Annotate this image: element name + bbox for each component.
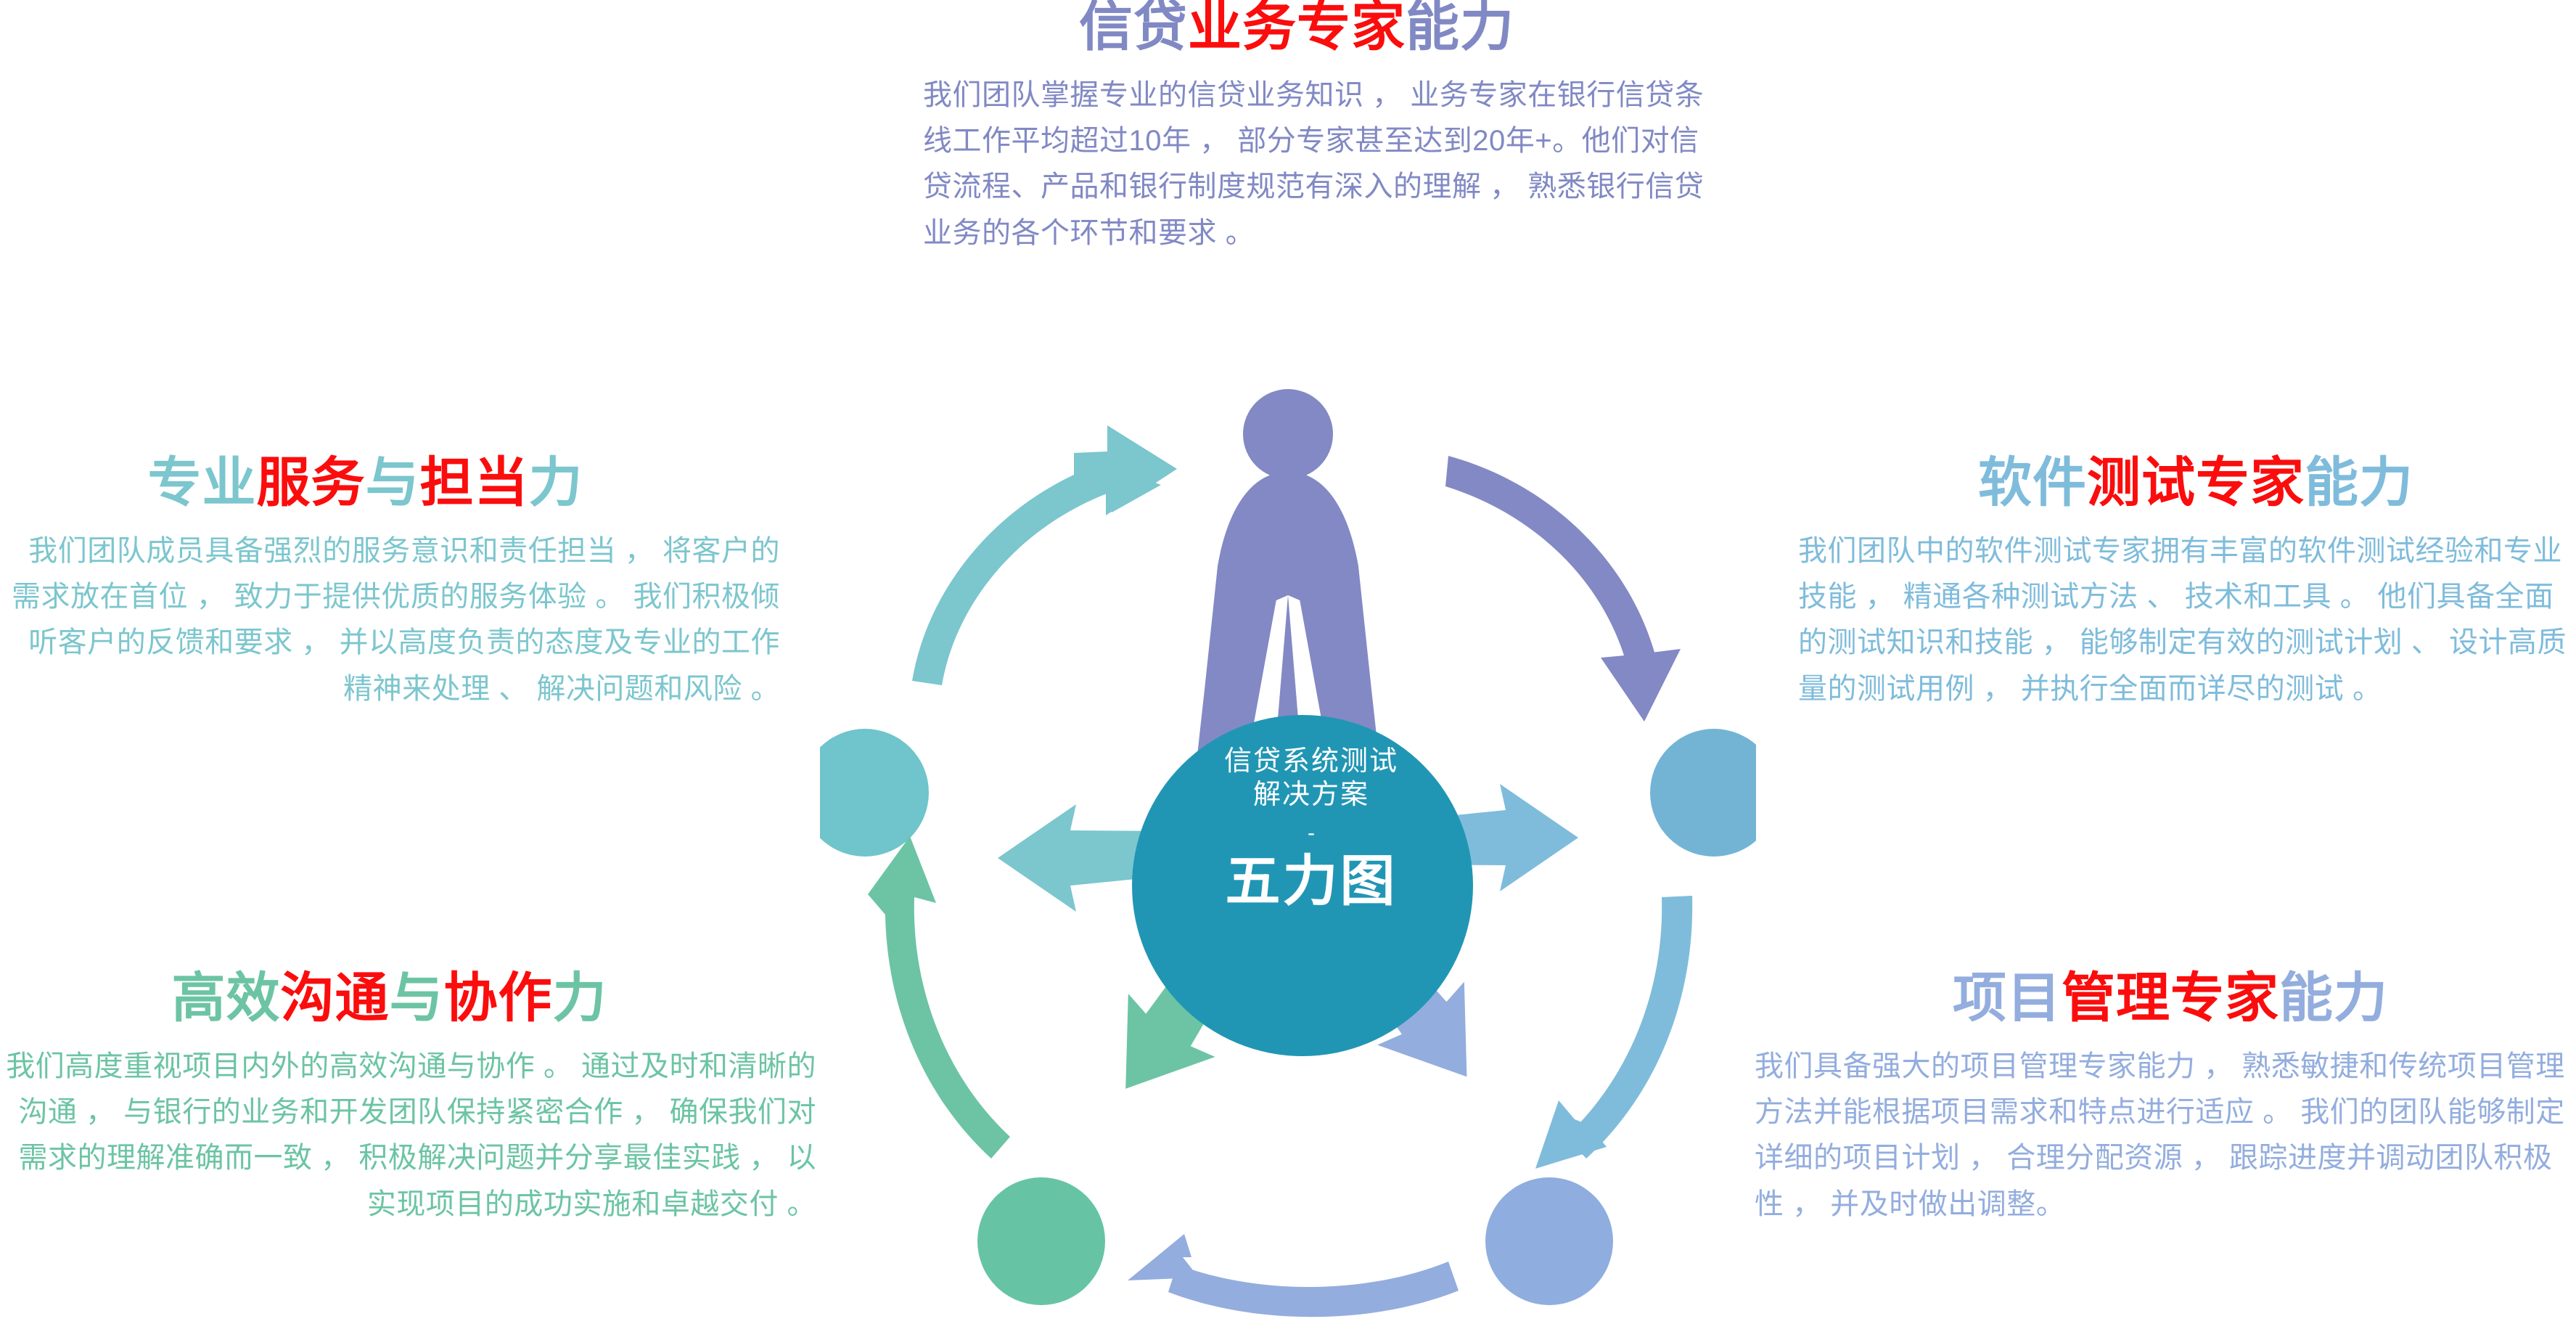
heading-part-1: 专业 — [148, 452, 257, 512]
heading-part-3: 能力 — [1406, 0, 1514, 57]
node-service-circle — [820, 729, 929, 857]
panel-service-body: 我们团队成员具备强烈的服务意识和责任担当 ， 将客户的需求放在首位 ， 致力于提… — [0, 528, 780, 712]
heading-part-2: 管理专家 — [2062, 968, 2279, 1028]
panel-credit-expertise: 信贷业务专家能力 我们团队掌握专业的信贷业务知识 ， 业务专家在银行信贷条线工作… — [923, 0, 1714, 256]
heading-part-3: 与 — [390, 968, 444, 1028]
panel-project-management-body: 我们具备强大的项目管理专家能力 ， 熟悉敏捷和传统项目管理方法并能根据项目需求和… — [1755, 1044, 2576, 1227]
panel-service-capability: 专业服务与担当力 我们团队成员具备强烈的服务意识和责任担当 ， 将客户的需求放在… — [0, 456, 780, 712]
heading-part-1: 高效 — [172, 968, 281, 1028]
center-circle — [1132, 715, 1473, 1056]
curved-arrow-communication-to-service — [868, 836, 1010, 1158]
heading-part-2: 业务专家 — [1188, 0, 1406, 57]
heading-part-1: 信贷 — [1079, 0, 1188, 57]
panel-software-heading: 软件测试专家能力 — [1798, 456, 2576, 510]
node-project-circle — [1485, 1177, 1613, 1305]
panel-credit-body: 我们团队掌握专业的信贷业务知识 ， 业务专家在银行信贷条线工作平均超过10年 ，… — [923, 73, 1714, 256]
heading-part-2: 服务 — [257, 452, 366, 512]
heading-part-2: 沟通 — [281, 968, 390, 1028]
curved-arrow-service-to-credit — [912, 425, 1177, 685]
panel-credit-heading: 信贷业务专家能力 — [923, 0, 1670, 54]
heading-part-2: 测试专家 — [2087, 452, 2305, 512]
heading-part-3: 能力 — [2279, 968, 2388, 1028]
panel-communication-capability: 高效沟通与协作力 我们高度重视项目内外的高效沟通与协作 。 通过及时和清晰的沟通… — [0, 971, 816, 1227]
panel-software-testing-capability: 软件测试专家能力 我们团队中的软件测试专家拥有丰富的软件测试经验和专业技能 ， … — [1798, 456, 2576, 712]
panel-project-management-capability: 项目管理专家能力 我们具备强大的项目管理专家能力 ， 熟悉敏捷和传统项目管理方法… — [1755, 971, 2576, 1227]
panel-communication-heading: 高效沟通与协作力 — [0, 971, 816, 1025]
heading-part-4: 担当 — [420, 452, 529, 512]
curved-arrow-software-to-project — [1535, 896, 1692, 1169]
curved-arrow-credit-to-software — [1445, 456, 1681, 722]
heading-part-1: 项目 — [1953, 968, 2062, 1028]
heading-part-5: 力 — [553, 968, 607, 1028]
heading-part-3: 与 — [366, 452, 420, 512]
panel-software-body: 我们团队中的软件测试专家拥有丰富的软件测试经验和专业技能 ， 精通各种测试方法 … — [1798, 528, 2576, 712]
heading-part-4: 协作 — [444, 968, 553, 1028]
node-software-circle — [1650, 729, 1756, 857]
panel-service-heading: 专业服务与担当力 — [0, 456, 780, 510]
heading-part-3: 能力 — [2305, 452, 2413, 512]
curved-arrow-project-to-communication — [1128, 1234, 1459, 1317]
panel-communication-body: 我们高度重视项目内外的高效沟通与协作 。 通过及时和清晰的沟通 ， 与银行的业务… — [0, 1044, 816, 1227]
panel-project-management-heading: 项目管理专家能力 — [1755, 971, 2576, 1025]
heading-part-1: 软件 — [1978, 452, 2087, 512]
node-communication-circle — [977, 1177, 1105, 1305]
heading-part-5: 力 — [529, 452, 583, 512]
